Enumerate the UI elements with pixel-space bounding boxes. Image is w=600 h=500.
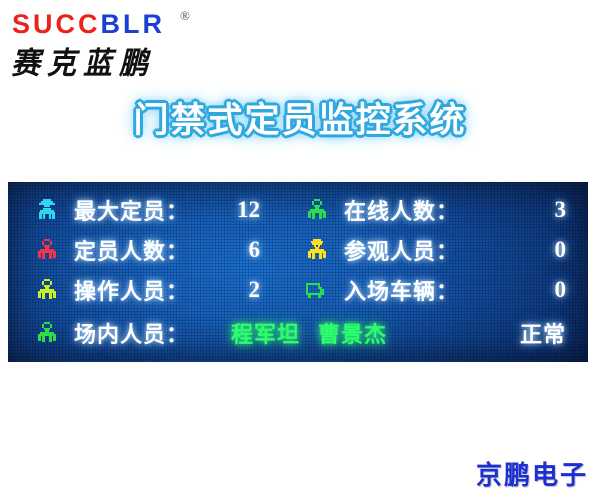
person-onsite-icon (34, 320, 60, 346)
led-row-operators: 操作人员： 2 (8, 270, 290, 310)
led-onsite-name-list: 程军坦曹景杰 (231, 317, 387, 349)
logo-latin-secondary: BLR (101, 9, 166, 39)
person-operator-icon (34, 277, 60, 303)
led-value-max-quota: 12 (237, 197, 260, 223)
led-label-vehicles: 入场车辆： (344, 274, 459, 306)
led-display-panel: 最大定员： 12 在线人数： 3 (8, 182, 588, 362)
led-onsite-name-2: 曹景杰 (318, 322, 387, 347)
person-hardhat-icon (34, 197, 60, 223)
logo-chinese-text: 赛克蓝鹏 (11, 39, 155, 83)
led-row-online-count: 在线人数： 3 (290, 190, 588, 230)
logo-latin-primary: SUCC (12, 9, 101, 39)
led-row-onsite-personnel: 场内人员： 程军坦曹景杰 正常 (8, 310, 588, 355)
led-onsite-name-1: 程军坦 (231, 322, 300, 347)
led-label-operators: 操作人员： (74, 274, 189, 306)
person-visitor-icon (304, 237, 330, 263)
led-row-max-quota: 最大定员： 12 (8, 190, 290, 230)
led-row-quota-count: 定员人数： 6 (8, 230, 290, 270)
registered-trademark-icon: ® (180, 8, 190, 24)
led-row-vehicles: 入场车辆： 0 (290, 270, 588, 310)
led-label-visitors: 参观人员： (344, 234, 459, 266)
led-value-vehicles: 0 (555, 277, 567, 303)
led-value-visitors: 0 (555, 237, 567, 263)
led-display-grid: 最大定员： 12 在线人数： 3 (8, 182, 588, 362)
led-label-online-count: 在线人数： (344, 194, 459, 226)
led-value-online-count: 3 (555, 197, 567, 223)
led-label-max-quota: 最大定员： (74, 194, 189, 226)
led-row-visitors: 参观人员： 0 (290, 230, 588, 270)
person-online-icon (304, 197, 330, 223)
page-title: 门禁式定员监控系统 (0, 92, 600, 143)
truck-icon (304, 277, 330, 303)
led-label-quota-count: 定员人数： (74, 234, 189, 266)
led-value-operators: 2 (249, 277, 261, 303)
logo-latin-text: SUCCBLR (12, 10, 165, 38)
status-badge: 正常 (520, 317, 566, 349)
footer-company-name: 京鹏电子 (476, 455, 588, 492)
led-value-quota-count: 6 (249, 237, 261, 263)
person-quota-icon (34, 237, 60, 263)
company-logo: SUCCBLR ® 赛克蓝鹏 (8, 6, 238, 74)
led-label-onsite-personnel: 场内人员： (74, 317, 189, 349)
